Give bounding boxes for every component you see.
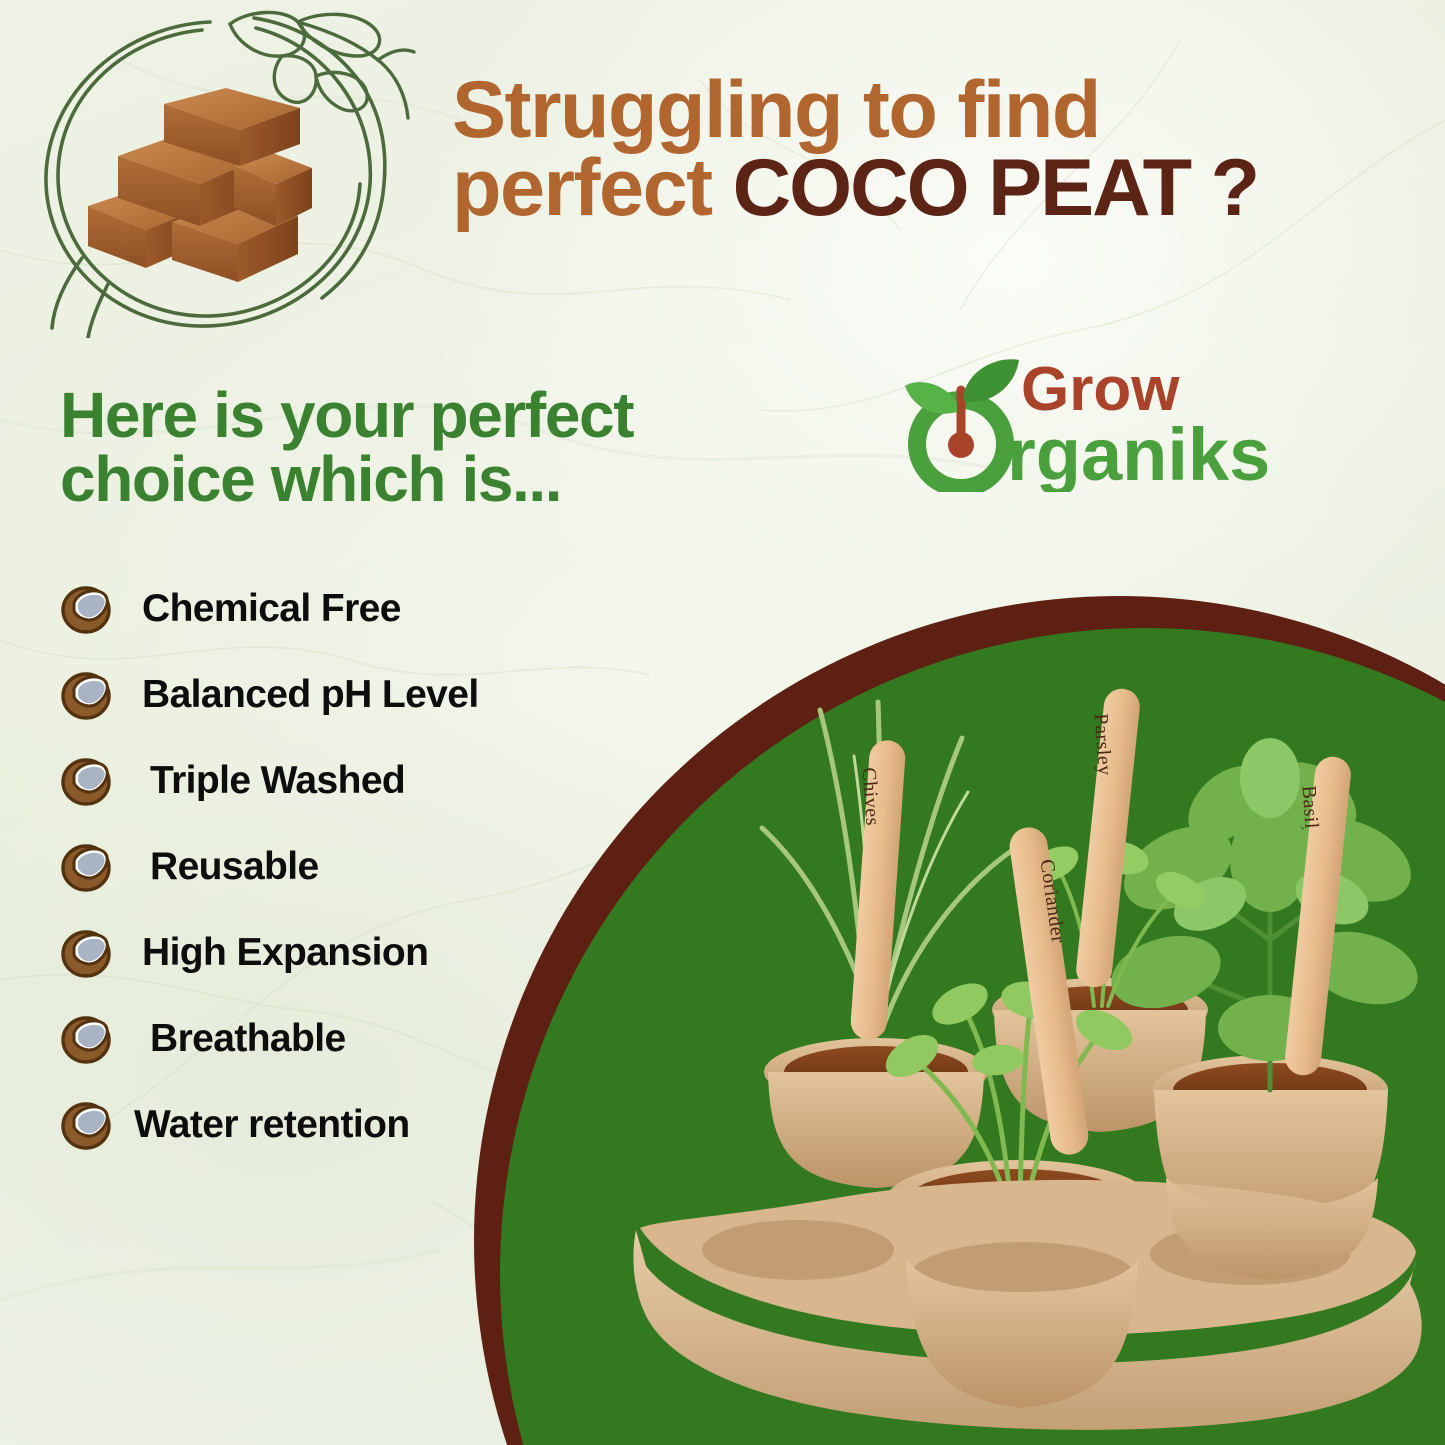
coconut-icon (58, 1013, 114, 1065)
benefit-item: Water retention (58, 1082, 618, 1168)
headline: Struggling to find perfect COCO PEAT ? (452, 72, 1412, 228)
benefit-item: Reusable (58, 824, 618, 910)
plant-label-chives: Chives (857, 767, 884, 827)
subheading-line-1: Here is your perfect (60, 383, 820, 447)
benefit-label: Reusable (150, 845, 319, 889)
benefit-label: Water retention (134, 1103, 410, 1147)
plant-label-parsley: Parsley (1089, 713, 1116, 777)
benefit-item: Chemical Free (58, 566, 618, 652)
plant-label-basil: Basil (1297, 785, 1323, 830)
benefit-label: High Expansion (142, 931, 428, 975)
poster-canvas: Struggling to find perfect COCO PEAT ? H… (0, 0, 1445, 1445)
logo-word-organiks: rganiks (1007, 413, 1270, 492)
sprout-ring-icon (905, 359, 1019, 488)
benefit-label: Chemical Free (142, 587, 401, 631)
coconut-icon (58, 927, 114, 979)
benefit-label: Triple Washed (150, 759, 405, 803)
coconut-icon (58, 669, 114, 721)
benefit-item: Triple Washed (58, 738, 618, 824)
seedling-tray-photo: Chives Parsley Coriander Basil (610, 560, 1445, 1445)
subheading-line-2: choice which is... (60, 447, 820, 511)
coco-peat-bricks-badge (26, 8, 416, 338)
benefit-item: High Expansion (58, 910, 618, 996)
benefit-item: Balanced pH Level (58, 652, 618, 738)
benefit-item: Breathable (58, 996, 618, 1082)
coco-peat-brick-stack (84, 86, 349, 286)
subheading: Here is your perfect choice which is... (60, 383, 820, 511)
headline-prefix: perfect (452, 143, 733, 233)
coconut-icon (58, 841, 114, 893)
benefit-label: Balanced pH Level (142, 673, 479, 717)
headline-line-1: Struggling to find (452, 72, 1412, 150)
headline-emphasis: COCO PEAT ? (733, 143, 1259, 233)
headline-line-2: perfect COCO PEAT ? (452, 150, 1412, 228)
brand-logo: Grow rganiks (903, 352, 1293, 492)
coconut-icon (58, 755, 114, 807)
coconut-icon (58, 583, 114, 635)
benefits-list: Chemical Free Balanced pH Level Trip (58, 566, 618, 1168)
benefit-label: Breathable (150, 1017, 346, 1061)
coconut-icon (58, 1099, 114, 1151)
